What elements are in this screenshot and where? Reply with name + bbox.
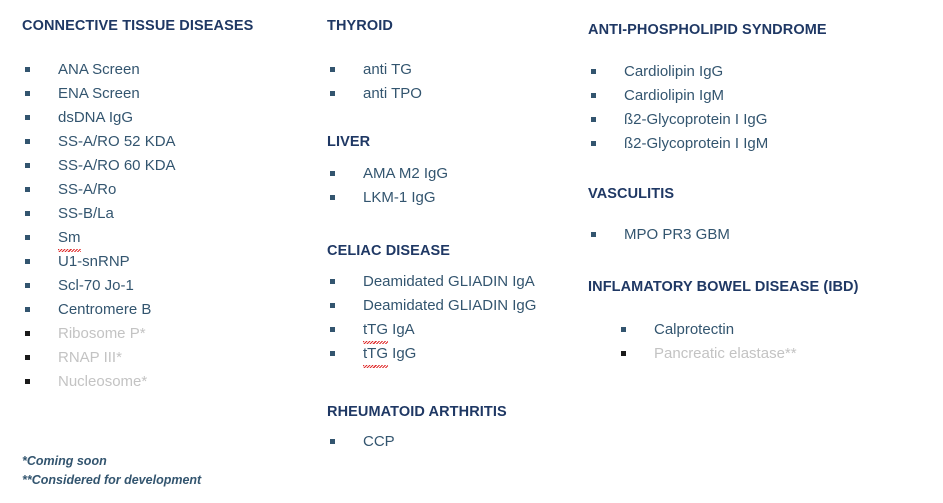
list-item-label: MPO PR3 GBM	[624, 226, 730, 243]
footnotes: *Coming soon **Considered for developmen…	[22, 452, 201, 490]
list-item-label: Deamidated GLIADIN IgA	[363, 273, 535, 290]
section-heading-celiac-disease: CELIAC DISEASE	[327, 243, 450, 260]
section-heading-vasculitis: VASCULITIS	[588, 186, 674, 203]
spellcheck-underline: tTG	[363, 318, 388, 342]
list-item[interactable]: Scl-70 Jo-1	[22, 274, 176, 298]
list-item-label: anti TPO	[363, 85, 422, 102]
list-item[interactable]: anti TPO	[327, 82, 422, 106]
footnote-considered-for-development: **Considered for development	[22, 471, 201, 490]
panel-menu-slide: CONNECTIVE TISSUE DISEASESANA ScreenENA …	[0, 0, 943, 503]
square-bullet-icon	[25, 163, 30, 168]
square-bullet-icon	[591, 117, 596, 122]
list-item-label: Pancreatic elastase**	[654, 345, 797, 362]
item-list-liver: AMA M2 IgGLKM-1 IgG	[327, 162, 448, 210]
list-item-label: Deamidated GLIADIN IgG	[363, 297, 536, 314]
list-item-label: dsDNA IgG	[58, 109, 133, 126]
list-item-label: tTG IgG	[363, 345, 416, 362]
item-list-inflamatory-bowel-disease: CalprotectinPancreatic elastase**	[588, 318, 797, 366]
square-bullet-icon	[330, 327, 335, 332]
list-item[interactable]: Cardiolipin IgG	[588, 60, 768, 84]
list-item[interactable]: LKM-1 IgG	[327, 186, 448, 210]
square-bullet-icon	[25, 115, 30, 120]
list-item[interactable]: Pancreatic elastase**	[588, 342, 797, 366]
list-item-label: SS-A/RO 52 KDA	[58, 133, 176, 150]
list-item[interactable]: Ribosome P*	[22, 322, 176, 346]
list-item[interactable]: dsDNA IgG	[22, 106, 176, 130]
item-list-anti-phospholipid-syndrome: Cardiolipin IgGCardiolipin IgMß2-Glycopr…	[588, 60, 768, 156]
list-item-label: ENA Screen	[58, 85, 140, 102]
section-heading-liver: LIVER	[327, 134, 370, 151]
list-item[interactable]: SS-A/RO 60 KDA	[22, 154, 176, 178]
list-item-label: SS-A/RO 60 KDA	[58, 157, 176, 174]
list-item-label: Calprotectin	[654, 321, 734, 338]
list-item-label: RNAP III*	[58, 349, 122, 366]
list-item[interactable]: Nucleosome*	[22, 370, 176, 394]
list-item-label: Ribosome P*	[58, 325, 146, 342]
square-bullet-icon	[591, 93, 596, 98]
square-bullet-icon	[25, 379, 30, 384]
square-bullet-icon	[25, 211, 30, 216]
list-item-label: Cardiolipin IgG	[624, 63, 723, 80]
list-item[interactable]: CCP	[327, 430, 395, 454]
section-heading-connective-tissue-diseases: CONNECTIVE TISSUE DISEASES	[22, 18, 253, 35]
list-item[interactable]: ANA Screen	[22, 58, 176, 82]
list-item[interactable]: RNAP III*	[22, 346, 176, 370]
list-item-label: Scl-70 Jo-1	[58, 277, 134, 294]
list-item[interactable]: SS-A/Ro	[22, 178, 176, 202]
list-item-label: CCP	[363, 433, 395, 450]
footnote-coming-soon: *Coming soon	[22, 452, 201, 471]
square-bullet-icon	[330, 351, 335, 356]
list-item[interactable]: MPO PR3 GBM	[588, 223, 730, 247]
square-bullet-icon	[330, 91, 335, 96]
list-item-label: anti TG	[363, 61, 412, 78]
list-item-label: ß2-Glycoprotein I IgM	[624, 135, 768, 152]
list-item-label: AMA M2 IgG	[363, 165, 448, 182]
item-list-celiac-disease: Deamidated GLIADIN IgADeamidated GLIADIN…	[327, 270, 536, 366]
square-bullet-icon	[25, 283, 30, 288]
list-item-label: ANA Screen	[58, 61, 140, 78]
spellcheck-underline: Sm	[58, 226, 81, 250]
square-bullet-icon	[621, 351, 626, 356]
list-item[interactable]: Deamidated GLIADIN IgG	[327, 294, 536, 318]
square-bullet-icon	[330, 279, 335, 284]
list-item-label: Nucleosome*	[58, 373, 147, 390]
list-item[interactable]: tTG IgA	[327, 318, 536, 342]
list-item[interactable]: ENA Screen	[22, 82, 176, 106]
list-item-label: SS-B/La	[58, 205, 114, 222]
list-item-label: ß2-Glycoprotein I IgG	[624, 111, 767, 128]
square-bullet-icon	[591, 69, 596, 74]
square-bullet-icon	[25, 139, 30, 144]
list-item[interactable]: ß2-Glycoprotein I IgM	[588, 132, 768, 156]
square-bullet-icon	[330, 67, 335, 72]
square-bullet-icon	[25, 235, 30, 240]
square-bullet-icon	[330, 303, 335, 308]
square-bullet-icon	[25, 331, 30, 336]
list-item-label: LKM-1 IgG	[363, 189, 436, 206]
list-item-label: Sm	[58, 229, 81, 246]
square-bullet-icon	[330, 439, 335, 444]
list-item[interactable]: Calprotectin	[588, 318, 797, 342]
item-list-thyroid: anti TGanti TPO	[327, 58, 422, 106]
list-item-label: tTG IgA	[363, 321, 415, 338]
list-item[interactable]: anti TG	[327, 58, 422, 82]
item-list-rheumatoid-arthritis: CCP	[327, 430, 395, 454]
square-bullet-icon	[25, 307, 30, 312]
list-item-label: SS-A/Ro	[58, 181, 116, 198]
list-item[interactable]: Centromere B	[22, 298, 176, 322]
list-item[interactable]: SS-A/RO 52 KDA	[22, 130, 176, 154]
list-item[interactable]: SS-B/La	[22, 202, 176, 226]
item-list-vasculitis: MPO PR3 GBM	[588, 223, 730, 247]
square-bullet-icon	[591, 232, 596, 237]
list-item-label: Cardiolipin IgM	[624, 87, 724, 104]
square-bullet-icon	[25, 355, 30, 360]
list-item-label: Centromere B	[58, 301, 151, 318]
square-bullet-icon	[25, 187, 30, 192]
list-item[interactable]: tTG IgG	[327, 342, 536, 366]
list-item[interactable]: Cardiolipin IgM	[588, 84, 768, 108]
section-heading-rheumatoid-arthritis: RHEUMATOID ARTHRITIS	[327, 404, 507, 421]
list-item[interactable]: Deamidated GLIADIN IgA	[327, 270, 536, 294]
square-bullet-icon	[591, 141, 596, 146]
square-bullet-icon	[621, 327, 626, 332]
item-list-connective-tissue-diseases: ANA ScreenENA ScreendsDNA IgGSS-A/RO 52 …	[22, 58, 176, 394]
list-item[interactable]: U1-snRNP	[22, 250, 176, 274]
spellcheck-underline: tTG	[363, 342, 388, 366]
section-heading-inflamatory-bowel-disease: INFLAMATORY BOWEL DISEASE (IBD)	[588, 279, 859, 296]
list-item-label: U1-snRNP	[58, 253, 130, 270]
section-heading-thyroid: THYROID	[327, 18, 393, 35]
square-bullet-icon	[25, 67, 30, 72]
list-item[interactable]: AMA M2 IgG	[327, 162, 448, 186]
square-bullet-icon	[25, 91, 30, 96]
list-item[interactable]: ß2-Glycoprotein I IgG	[588, 108, 768, 132]
list-item[interactable]: Sm	[22, 226, 176, 250]
square-bullet-icon	[330, 195, 335, 200]
section-heading-anti-phospholipid-syndrome: ANTI-PHOSPHOLIPID SYNDROME	[588, 22, 827, 39]
square-bullet-icon	[330, 171, 335, 176]
square-bullet-icon	[25, 259, 30, 264]
